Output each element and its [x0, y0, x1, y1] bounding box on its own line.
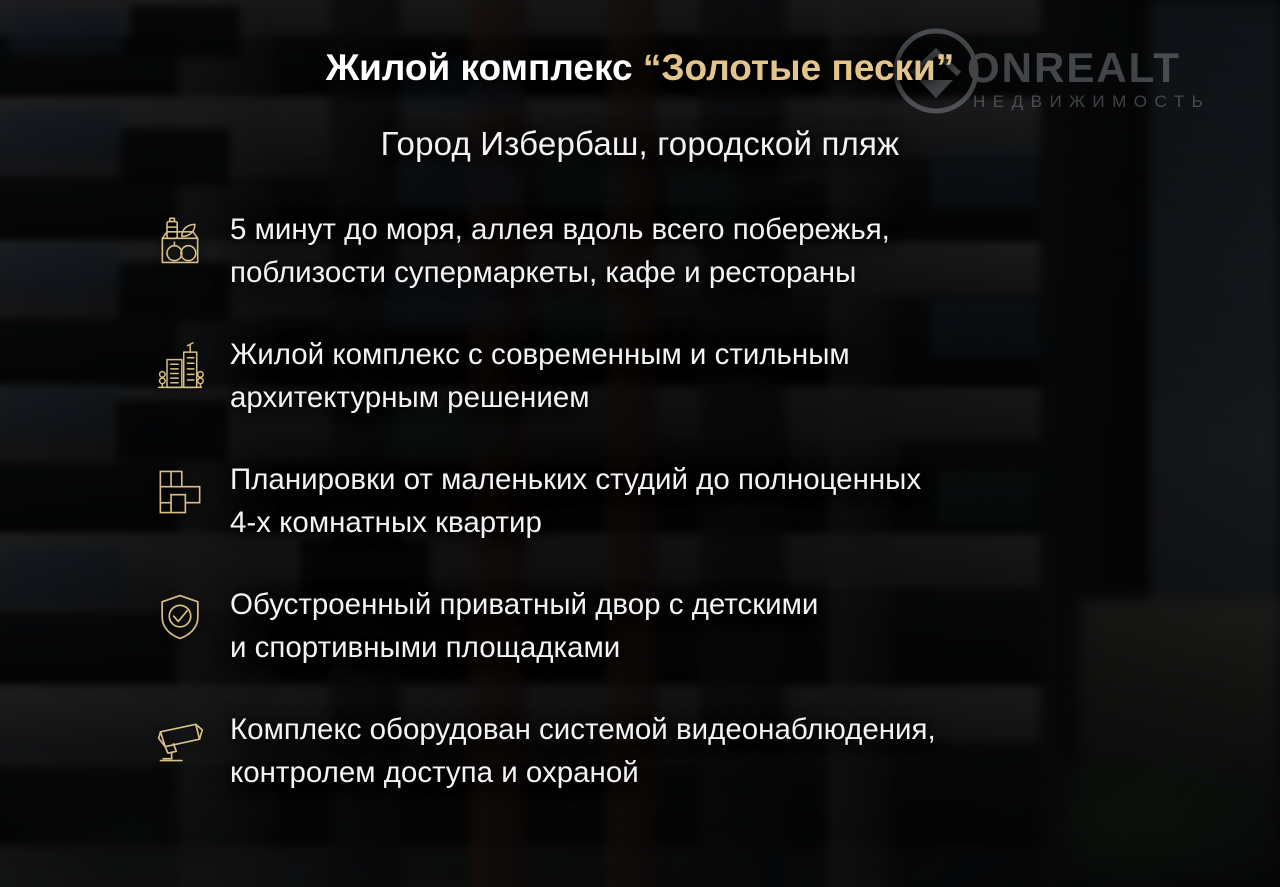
feature-line: поблизости супермаркеты, кафе и ресторан… [230, 251, 890, 294]
feature-line: архитектурным решением [230, 376, 850, 419]
page-title: Жилой комплекс “Золотые пески” [0, 47, 1280, 89]
floor-plan-icon [152, 464, 208, 520]
feature-line: Планировки от маленьких студий до полноц… [230, 458, 921, 501]
feature-line: контролем доступа и охраной [230, 751, 936, 794]
page-subtitle: Город Избербаш, городской пляж [0, 125, 1280, 163]
list-item: Планировки от маленьких студий до полноц… [152, 458, 1162, 583]
feature-line: Обустроенный приватный двор с детскими [230, 583, 818, 626]
feature-line: 4-х комнатных квартир [230, 501, 921, 544]
poster-content: Жилой комплекс “Золотые пески” Город Изб… [0, 0, 1280, 887]
feature-line: 5 минут до моря, аллея вдоль всего побер… [230, 208, 890, 251]
list-item: 5 минут до моря, аллея вдоль всего побер… [152, 208, 1162, 333]
grocery-bag-icon [152, 214, 208, 270]
shield-check-icon [152, 589, 208, 645]
title-accent: “Золотые пески” [643, 47, 954, 88]
list-item: Комплекс оборудован системой видеонаблюд… [152, 708, 1162, 833]
list-item: Обустроенный приватный двор с детскими и… [152, 583, 1162, 708]
city-buildings-icon [152, 339, 208, 395]
feature-list: 5 минут до моря, аллея вдоль всего побер… [152, 208, 1162, 833]
feature-text: Комплекс оборудован системой видеонаблюд… [230, 708, 936, 794]
feature-text: 5 минут до моря, аллея вдоль всего побер… [230, 208, 890, 294]
feature-text: Планировки от маленьких студий до полноц… [230, 458, 921, 544]
feature-line: Комплекс оборудован системой видеонаблюд… [230, 708, 936, 751]
feature-line: Жилой комплекс с современным и стильным [230, 333, 850, 376]
title-lead: Жилой комплекс [326, 47, 643, 88]
cctv-camera-icon [152, 714, 208, 770]
feature-text: Обустроенный приватный двор с детскими и… [230, 583, 818, 669]
feature-text: Жилой комплекс с современным и стильным … [230, 333, 850, 419]
feature-line: и спортивными площадками [230, 626, 818, 669]
real-estate-poster: ONREALT НЕДВИЖИМОСТЬ Жилой комплекс “Зол… [0, 0, 1280, 887]
list-item: Жилой комплекс с современным и стильным … [152, 333, 1162, 458]
